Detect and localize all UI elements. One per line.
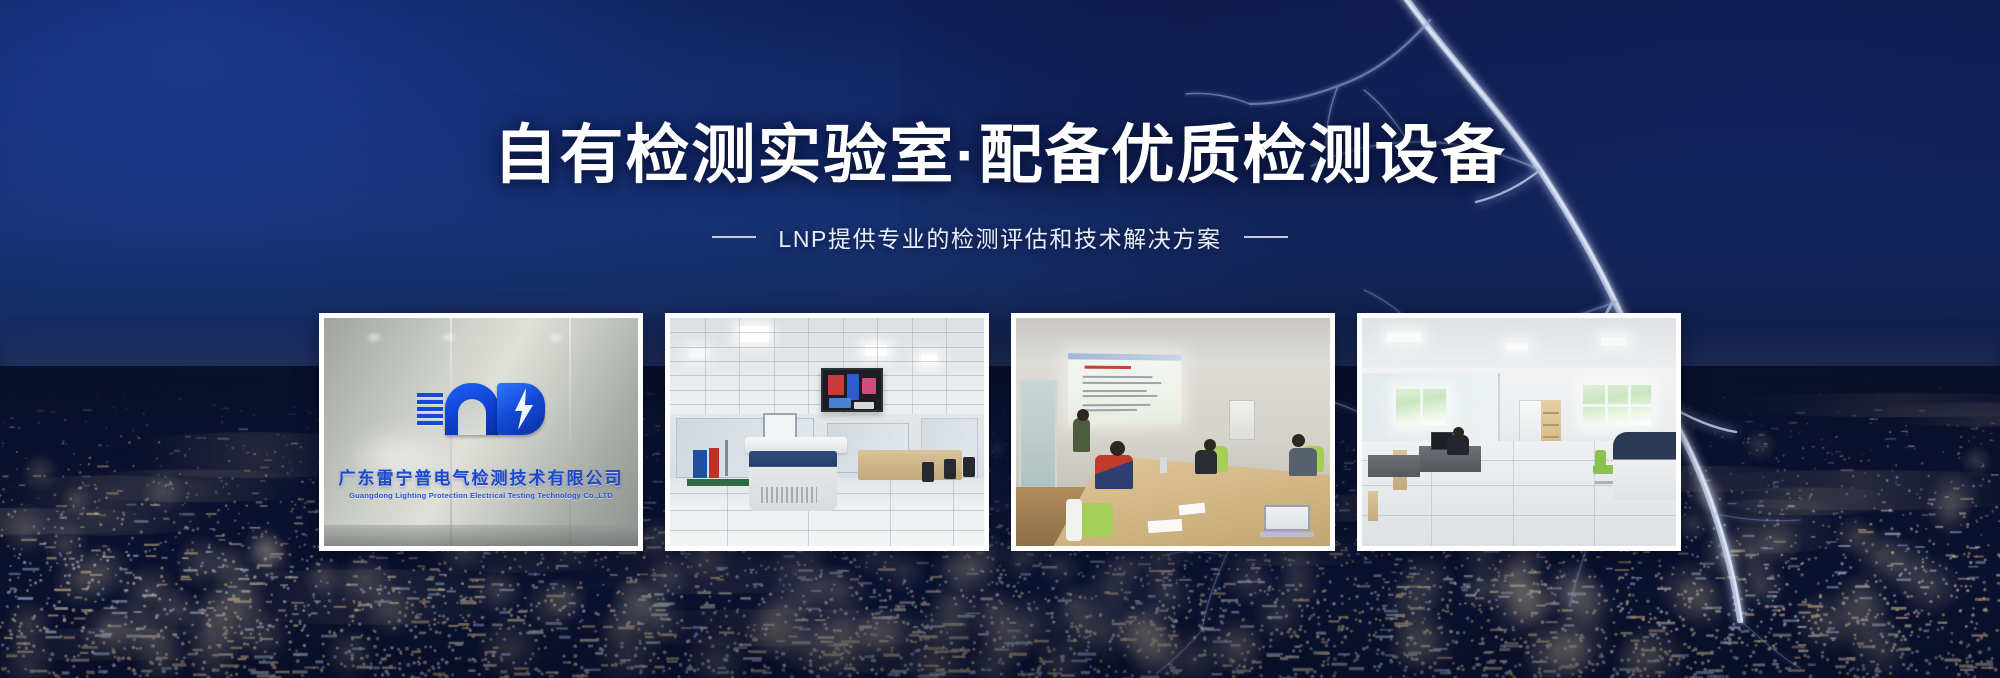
office-window [1393, 386, 1449, 428]
wall-mounted-display [821, 368, 883, 412]
company-signage-photo: 广东雷宁普电气检测技术有限公司 Guangdong Lighting Prote… [324, 318, 638, 546]
chair-frame [1066, 499, 1082, 541]
page-title: 自有检测实验室·配备优质检测设备 [0, 118, 2000, 194]
office-chair [922, 462, 934, 482]
person-seated-right [1289, 448, 1317, 476]
ceiling-tile-line [670, 332, 984, 333]
ceiling-tile-line [946, 318, 947, 421]
gallery-card-meeting-room[interactable] [1011, 313, 1335, 551]
office-window [1580, 382, 1654, 428]
lnp-logo-letter-n [445, 383, 499, 435]
ceiling-light-dot [550, 334, 562, 341]
meeting-training-room-photo [1016, 318, 1330, 546]
gallery-row: 广东雷宁普电气检测技术有限公司 Guangdong Lighting Prote… [319, 313, 1681, 551]
laboratory-control-console [745, 437, 847, 511]
testing-laboratory-photo [670, 318, 984, 546]
office-workspace-photo [1362, 318, 1676, 546]
subtitle-rule-right-icon [1244, 236, 1288, 238]
subtitle-container: LNP提供专业的检测评估和技术解决方案 [0, 220, 2000, 254]
office-chair [963, 457, 975, 477]
office-chair [944, 459, 956, 479]
ceiling-tile-line [774, 318, 775, 421]
gallery-card-office[interactable] [1357, 313, 1681, 551]
meeting-room-scene [1016, 318, 1330, 546]
subtitle-rule-left-icon [712, 236, 756, 238]
gallery-card-testing-laboratory[interactable] [665, 313, 989, 551]
console-monitor [763, 413, 797, 439]
hero-banner: 自有检测实验室·配备优质检测设备 LNP提供专业的检测评估和技术解决方案 [0, 0, 2000, 678]
page-subtitle: LNP提供专业的检测评估和技术解决方案 [778, 220, 1221, 254]
laboratory-scene [670, 318, 984, 546]
person-presenter [1073, 418, 1090, 452]
air-conditioner [1229, 400, 1255, 440]
signage-company-name-cn: 广东雷宁普电气检测技术有限公司 [339, 464, 624, 489]
ceiling-light-dot [368, 334, 380, 341]
water-bottle [1160, 457, 1167, 473]
chair-green [1079, 503, 1113, 537]
person-seated-middle [1195, 450, 1217, 474]
ceiling-tile-line [808, 318, 809, 421]
ceiling-tile-line [739, 318, 740, 421]
gallery-card-company-signage[interactable]: 广东雷宁普电气检测技术有限公司 Guangdong Lighting Prote… [319, 313, 643, 551]
headline-container: 自有检测实验室·配备优质检测设备 [0, 118, 2000, 194]
office-desk [1368, 455, 1420, 477]
ceiling-tile-line [670, 347, 984, 348]
laptop-computer [1260, 505, 1314, 537]
ceiling-vent [1506, 343, 1528, 350]
lnp-logo-bars-icon [417, 393, 443, 425]
ceiling-vent [1601, 337, 1627, 345]
reception-counter [1613, 432, 1676, 500]
person-seated-front [1095, 455, 1133, 489]
ceiling-tile-line [705, 318, 706, 421]
lnp-logo-letter-p [497, 383, 545, 435]
person-working [1447, 427, 1469, 455]
lnp-logo [417, 383, 545, 435]
wall-seam [569, 318, 571, 546]
ceiling-tile-line [670, 361, 984, 362]
office-desk-panel [1368, 491, 1378, 521]
wall-base-shadow [324, 525, 638, 546]
glass-door [1019, 380, 1057, 499]
signage-company-name-en: Guangdong Lighting Protection Electrical… [349, 491, 613, 500]
ceiling-panel-light [739, 326, 769, 342]
ceiling-tile-line [912, 318, 913, 421]
office-scene [1362, 318, 1676, 546]
ceiling-vent [1387, 333, 1421, 342]
